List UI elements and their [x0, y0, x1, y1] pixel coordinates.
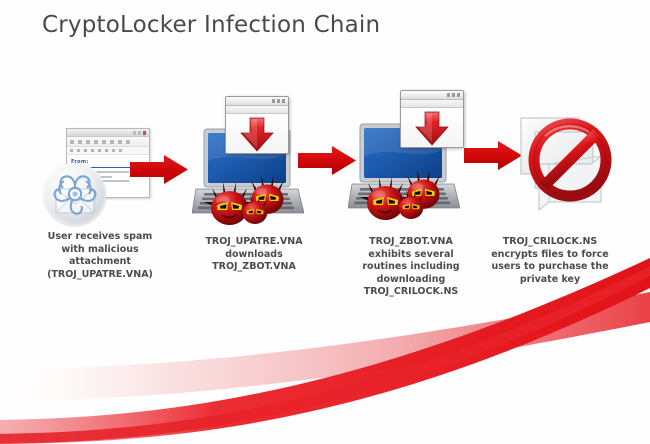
biohazard-envelope-badge: [44, 163, 106, 225]
download-window-canvas: [401, 108, 463, 148]
slide-canvas: CryptoLocker Infection Chain From:: [0, 0, 650, 444]
biohazard-icon: [44, 163, 106, 225]
email-window-toolbar: [67, 137, 149, 147]
stage-1-caption: User receives spam with malicious attach…: [20, 231, 180, 281]
stage-4-caption: TROJ_CRILOCK.NS encrypts files to force …: [474, 236, 626, 286]
download-window-icon-2: [225, 96, 289, 154]
email-window-titlebar: [67, 129, 149, 137]
malware-bugs-icon-2: [203, 173, 299, 235]
download-window-icon-3: [400, 90, 464, 148]
download-window-titlebar: [401, 91, 463, 100]
download-window-menubar: [226, 106, 288, 114]
page-title: CryptoLocker Infection Chain: [42, 12, 380, 38]
download-arrow-icon: [238, 116, 276, 154]
stage-3-caption: TROJ_ZBOT.VNA exhibits several routines …: [338, 236, 484, 299]
encrypted-files-blocked-icon: [505, 110, 623, 224]
download-window-canvas: [226, 114, 288, 154]
download-window-menubar: [401, 100, 463, 108]
download-window-titlebar: [226, 97, 288, 106]
download-arrow-icon: [413, 110, 451, 148]
malware-bugs-icon-3: [359, 168, 455, 230]
right-arrow-icon-1: [128, 153, 190, 187]
stage-2-caption: TROJ_UPATRE.VNA downloads TROJ_ZBOT.VNA: [184, 236, 324, 274]
